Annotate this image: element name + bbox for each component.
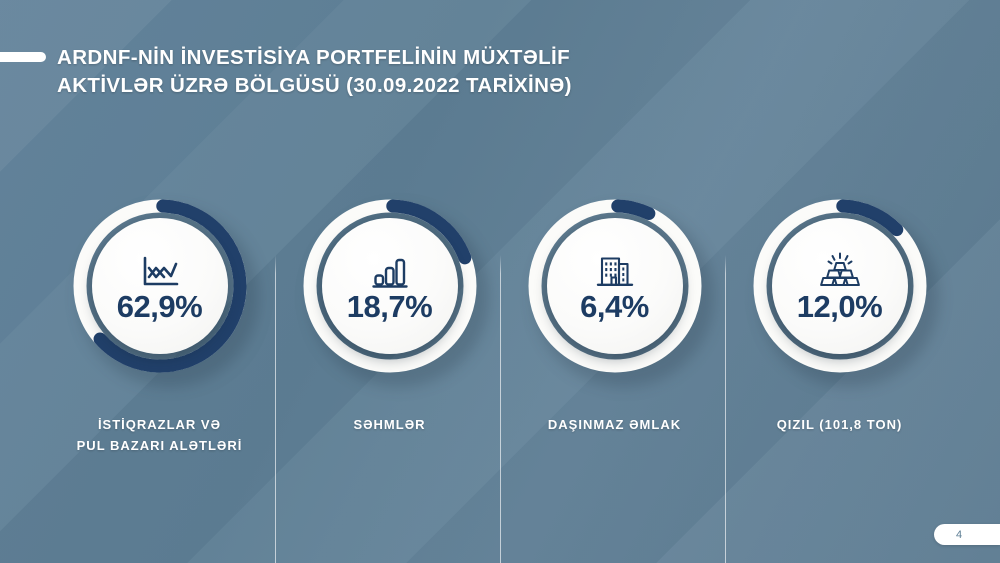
- donut-chart-gold: 12,0%: [750, 196, 930, 376]
- donut-columns: 62,9% İSTİQRAZLAR VƏ PUL BAZARI ALƏTLƏRİ: [0, 0, 1000, 563]
- line-chart-icon: [137, 249, 183, 289]
- metric-label-shares-line-1: SƏHMLƏR: [278, 414, 501, 435]
- buildings-icon: [592, 249, 638, 289]
- donut-center-realestate: 6,4%: [547, 218, 683, 354]
- bar-chart-icon: [367, 249, 413, 289]
- donut-center-shares: 18,7%: [322, 218, 458, 354]
- gold-bars-icon: [817, 249, 863, 289]
- metric-label-gold: QIZIL (101,8 TON): [728, 414, 951, 435]
- donut-center-gold: 12,0%: [772, 218, 908, 354]
- percent-value-realestate: 6,4%: [580, 291, 649, 323]
- metric-label-gold-line-1: QIZIL (101,8 TON): [728, 414, 951, 435]
- page-number-value: 4: [956, 529, 962, 541]
- metric-label-realestate: DAŞINMAZ ƏMLAK: [503, 414, 726, 435]
- slide-canvas: ARDNF-NİN İNVESTİSİYA PORTFELİNİN MÜXTƏL…: [0, 0, 1000, 563]
- metric-label-bonds-line-1: İSTİQRAZLAR VƏ: [48, 414, 271, 435]
- metric-label-realestate-line-1: DAŞINMAZ ƏMLAK: [503, 414, 726, 435]
- percent-value-gold: 12,0%: [797, 291, 882, 323]
- donut-center-bonds: 62,9%: [92, 218, 228, 354]
- page-number-badge: 4: [934, 524, 1000, 545]
- metric-label-shares: SƏHMLƏR: [278, 414, 501, 435]
- metric-label-bonds: İSTİQRAZLAR VƏ PUL BAZARI ALƏTLƏRİ: [48, 414, 271, 456]
- metric-label-bonds-line-2: PUL BAZARI ALƏTLƏRİ: [48, 435, 271, 456]
- metric-column-shares: 18,7% SƏHMLƏR: [278, 0, 501, 563]
- donut-chart-shares: 18,7%: [300, 196, 480, 376]
- metric-column-realestate: 6,4% DAŞINMAZ ƏMLAK: [503, 0, 726, 563]
- percent-value-bonds: 62,9%: [117, 291, 202, 323]
- metric-column-gold: 12,0% QIZIL (101,8 TON): [728, 0, 951, 563]
- percent-value-shares: 18,7%: [347, 291, 432, 323]
- metric-column-bonds: 62,9% İSTİQRAZLAR VƏ PUL BAZARI ALƏTLƏRİ: [48, 0, 271, 563]
- donut-chart-bonds: 62,9%: [70, 196, 250, 376]
- donut-chart-realestate: 6,4%: [525, 196, 705, 376]
